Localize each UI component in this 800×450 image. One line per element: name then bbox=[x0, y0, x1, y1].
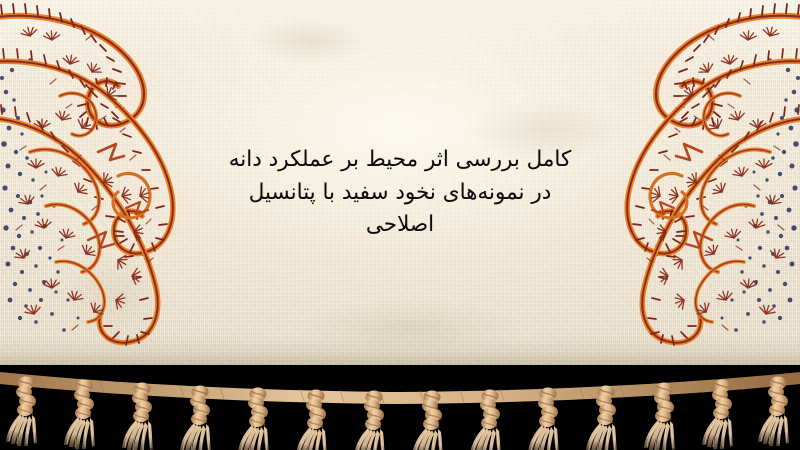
title-line-1: کامل بررسی اثر محیط بر عملکرد دانه bbox=[180, 144, 620, 177]
boteh-inner-curls bbox=[30, 93, 150, 322]
boteh-inner-curls bbox=[650, 93, 770, 322]
navy-stipple bbox=[721, 58, 800, 332]
page-title: کامل بررسی اثر محیط بر عملکرد دانه در نم… bbox=[180, 144, 620, 242]
tassel-fringe bbox=[0, 358, 800, 450]
title-line-2: در نمونه‌های نخود سفید با پتانسیل bbox=[180, 177, 620, 210]
title-slide: کامل بررسی اثر محیط بر عملکرد دانه در نم… bbox=[0, 0, 800, 450]
boteh-scroll-lower bbox=[642, 105, 800, 345]
title-line-3: اصلاحی bbox=[180, 209, 620, 242]
boteh-scroll-lower bbox=[0, 105, 158, 345]
navy-stipple bbox=[0, 58, 80, 332]
